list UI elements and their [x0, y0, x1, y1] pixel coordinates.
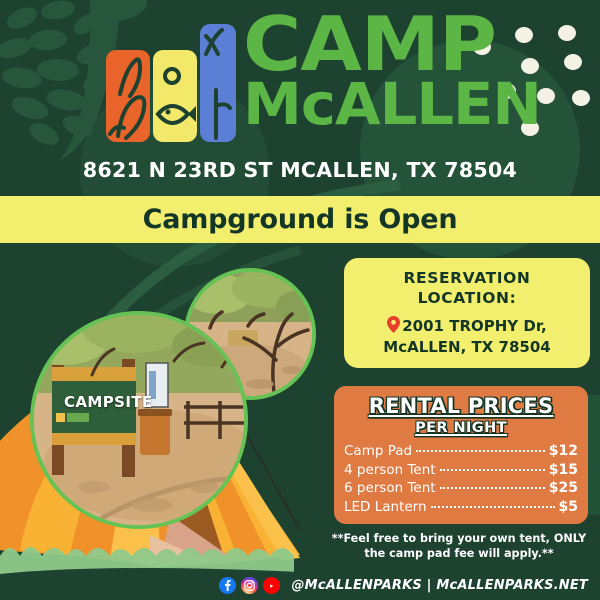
price-leader	[440, 469, 545, 471]
rental-prices-subtitle: PER NIGHT	[334, 420, 588, 436]
footer-bar: @McALLENPARKS | McALLENPARKS.NET	[0, 571, 600, 600]
logo-word-camp: CAMP	[243, 14, 600, 76]
open-status-banner: Campground is Open	[0, 196, 600, 243]
reservation-title: RESERVATION LOCATION:	[403, 269, 530, 308]
logo-wordmark: CAMP McALLEN	[243, 14, 583, 130]
price-item-name: LED Lantern	[344, 499, 427, 515]
open-status-text: Campground is Open	[143, 204, 458, 235]
rental-disclaimer: **Feel free to bring your own tent, ONLY…	[318, 532, 600, 562]
disclaimer-line1: **Feel free to bring your own tent, ONLY	[318, 532, 600, 547]
price-leader	[416, 450, 545, 452]
reservation-street: 2001 TROPHY Dr,	[402, 317, 546, 335]
rental-prices-card: RENTAL PRICES PER NIGHT Camp Pad $12 4 p…	[334, 386, 588, 524]
youtube-icon[interactable]	[263, 577, 280, 594]
instagram-icon[interactable]	[241, 577, 258, 594]
price-row: 4 person Tent $15	[344, 462, 578, 478]
price-row: 6 person Tent $25	[344, 480, 578, 496]
price-item-value: $12	[549, 443, 578, 459]
price-item-name: Camp Pad	[344, 443, 412, 459]
price-item-value: $25	[549, 480, 578, 496]
campsite-entrance-photo: CAMPSITE	[30, 311, 248, 529]
reservation-card: RESERVATION LOCATION: 2001 TROPHY Dr, Mc…	[344, 258, 590, 368]
price-item-value: $15	[549, 462, 578, 478]
price-item-value: $5	[559, 499, 578, 515]
reservation-city: McALLEN, TX 78504	[383, 338, 550, 357]
price-row: LED Lantern $5	[344, 499, 578, 515]
park-address: 8621 N 23RD ST MCALLEN, TX 78504	[0, 158, 600, 182]
reservation-address: 2001 TROPHY Dr, McALLEN, TX 78504	[383, 316, 550, 357]
reservation-address-line1: 2001 TROPHY Dr,	[383, 316, 550, 338]
logo-word-mcallen: McALLEN	[243, 78, 590, 130]
rental-price-list: Camp Pad $12 4 person Tent $15 6 person …	[334, 443, 588, 515]
social-handle[interactable]: @McALLENPARKS | McALLENPARKS.NET	[291, 578, 588, 593]
map-pin-icon	[387, 316, 400, 338]
price-leader	[431, 506, 555, 508]
price-leader	[440, 487, 545, 489]
price-item-name: 6 person Tent	[344, 480, 436, 496]
reservation-title-line1: RESERVATION	[403, 269, 530, 288]
price-item-name: 4 person Tent	[344, 462, 436, 478]
disclaimer-line2: the camp pad fee will apply.**	[318, 547, 600, 562]
camp-mcallen-logo	[106, 24, 236, 149]
reservation-title-line2: LOCATION:	[403, 289, 530, 308]
rental-prices-title: RENTAL PRICES	[334, 394, 588, 418]
poster-root: CAMP McALLEN 8621 N 23RD ST MCALLEN, TX …	[0, 0, 600, 600]
campsite-sign-label: CAMPSITE	[64, 393, 153, 411]
price-row: Camp Pad $12	[344, 443, 578, 459]
facebook-icon[interactable]	[219, 577, 236, 594]
